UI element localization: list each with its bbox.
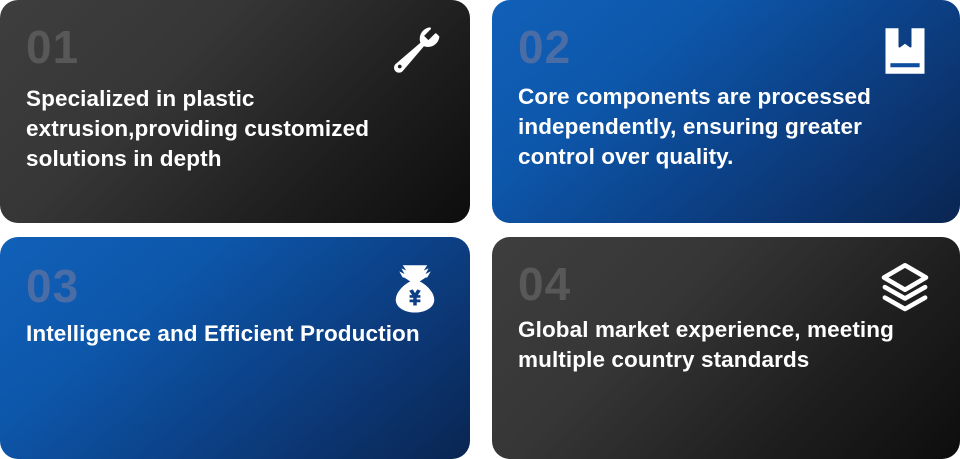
card-number-01: 01 — [26, 24, 444, 70]
card-text-03: Intelligence and Efficient Production — [26, 319, 427, 349]
card-text-02: Core components are processed independen… — [518, 82, 917, 172]
feature-card-01[interactable]: 01 Specialized in plastic extrusion,prov… — [0, 0, 470, 223]
feature-card-03[interactable]: 03 Intelligence and Efficient Production — [0, 237, 470, 459]
card-number-03: 03 — [26, 263, 444, 309]
feature-card-grid: 01 Specialized in plastic extrusion,prov… — [0, 0, 960, 459]
feature-card-02[interactable]: 02 Core components are processed indepen… — [492, 0, 960, 223]
card-text-04: Global market experience, meeting multip… — [518, 315, 917, 375]
card-number-04: 04 — [518, 261, 934, 307]
feature-card-04[interactable]: 04 Global market experience, meeting mul… — [492, 237, 960, 459]
card-number-02: 02 — [518, 24, 934, 70]
card-text-01: Specialized in plastic extrusion,providi… — [26, 84, 427, 174]
